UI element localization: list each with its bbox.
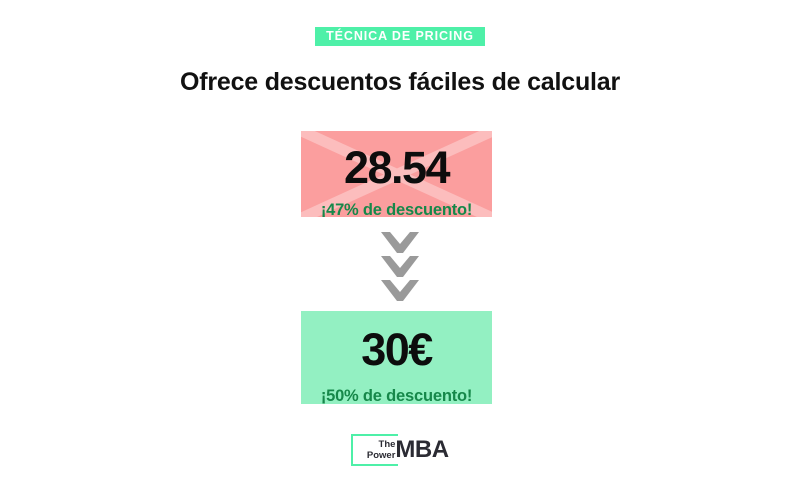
new-price-discount-label: ¡50% de descuento! xyxy=(301,372,492,404)
page-title: Ofrece descuentos fáciles de calcular xyxy=(0,68,800,97)
old-price-value: 28.54 xyxy=(301,131,492,190)
logo-word-mark: MBA xyxy=(395,438,448,462)
chevron-down-icon xyxy=(381,232,419,254)
brand-logo: The Power MBA xyxy=(0,434,800,466)
old-price-discount-label: ¡47% de descuento! xyxy=(301,190,492,217)
slide-canvas: TÉCNICA DE PRICING Ofrece descuentos fác… xyxy=(0,0,800,500)
status-badge: TÉCNICA DE PRICING xyxy=(315,27,485,46)
logo-inner: The Power MBA xyxy=(351,434,448,466)
new-price-card: 30€ ¡50% de descuento! xyxy=(301,311,492,404)
chevron-down-icon xyxy=(381,280,419,302)
logo-frame-icon: The Power xyxy=(351,434,398,466)
logo-line-one: The xyxy=(379,440,396,450)
arrow-stack xyxy=(0,232,800,302)
chevron-down-icon xyxy=(381,256,419,278)
new-price-value: 30€ xyxy=(301,311,492,372)
logo-line-two: Power xyxy=(367,450,396,461)
eyebrow-badge-row: TÉCNICA DE PRICING xyxy=(0,27,800,46)
old-price-card: 28.54 ¡47% de descuento! xyxy=(301,131,492,217)
